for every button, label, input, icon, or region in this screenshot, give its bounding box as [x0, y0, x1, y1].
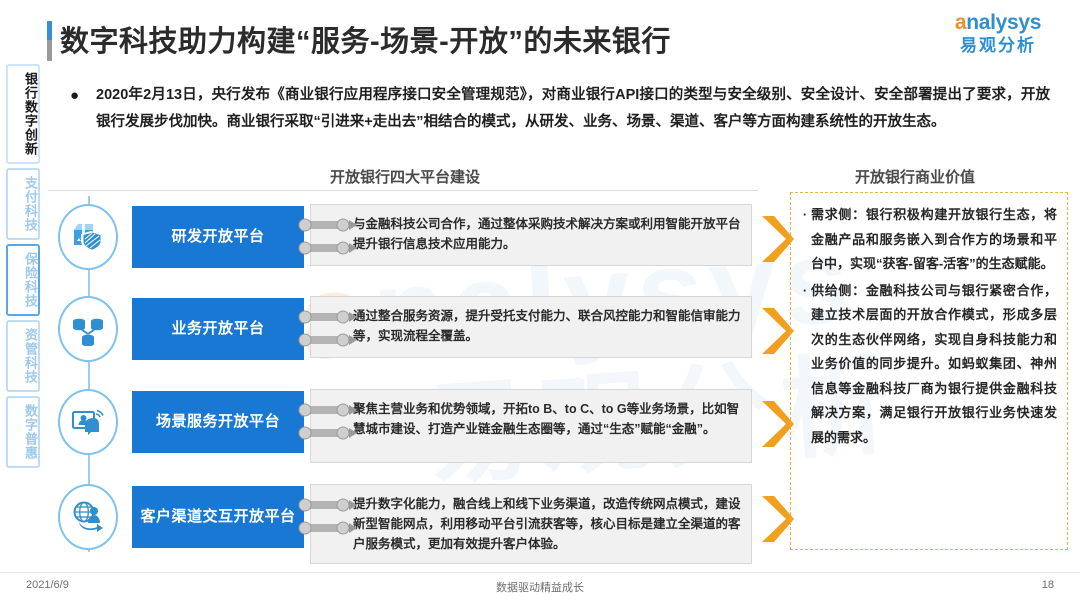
platform-row: 客户渠道交互开放平台 提升数字化能力，融合线上和线下业务渠道，改造传统网点模式，…: [48, 478, 808, 556]
platform-name-badge[interactable]: 客户渠道交互开放平台: [132, 486, 304, 548]
brand-logo-a: a: [955, 11, 966, 34]
value-bullet-demand-side: · 需求侧：银行积极构建开放银行生态，将金融产品和服务嵌入到合作方的场景和平台中…: [799, 203, 1057, 277]
sidebar-nav: 银行数字创新 支付科技 保险科技 资管科技 数字普惠: [6, 64, 40, 472]
section-heading-right: 开放银行商业价值: [855, 166, 975, 187]
platform-name-label: 客户渠道交互开放平台: [140, 508, 295, 526]
bullet-dot-icon: ·: [799, 203, 811, 277]
brand-logo: analysys 易观分析: [938, 12, 1058, 54]
brand-logo-rest: nalysys: [966, 11, 1041, 34]
sidebar-item-label: 保险科技: [8, 252, 38, 308]
database-stack-icon: [58, 296, 118, 362]
platform-row: 研发开放平台 与金融科技公司合作，通过整体采购技术解决方案或利用智能开放平台提升…: [48, 198, 808, 276]
platform-description: 与金融科技公司合作，通过整体采购技术解决方案或利用智能开放平台提升银行信息技术应…: [310, 204, 752, 266]
intro-text: 2020年2月13日，央行发布《商业银行应用程序接口安全管理规范》，对商业银行A…: [96, 82, 1050, 136]
brand-logo-subtitle: 易观分析: [938, 37, 1058, 54]
section-divider: [48, 190, 758, 191]
sidebar-item-label: 数字普惠: [8, 404, 38, 460]
footer-slogan: 数据驱动精益成长: [0, 579, 1080, 595]
intro-paragraph: ● 2020年2月13日，央行发布《商业银行应用程序接口安全管理规范》，对商业银…: [70, 82, 1050, 136]
bullet-dot-icon: ·: [799, 279, 811, 451]
screen-person-signal-icon: [58, 389, 118, 455]
sidebar-item-label: 资管科技: [8, 328, 38, 384]
sidebar-item-label: 银行数字创新: [8, 72, 38, 156]
title-accent-bar: [47, 21, 52, 61]
section-heading-left: 开放银行四大平台建设: [330, 166, 480, 187]
platform-row: 业务开放平台 通过整合服务资源，提升受托支付能力、联合风控能力和智能信审能力等，…: [48, 290, 808, 368]
link-connector-icon: [293, 391, 365, 453]
sidebar-item-insurance-tech[interactable]: 保险科技: [6, 244, 40, 316]
package-shield-icon: [58, 204, 118, 270]
platform-name-badge[interactable]: 业务开放平台: [132, 298, 304, 360]
platform-name-badge[interactable]: 场景服务开放平台: [132, 391, 304, 453]
brand-logo-text: analysys: [938, 12, 1058, 33]
page-header: 数字科技助力构建“服务-场景-开放”的未来银行 analysys 易观分析: [0, 0, 1080, 70]
link-connector-icon: [293, 206, 365, 268]
footer-page-number: 18: [1042, 579, 1054, 591]
platform-row: 场景服务开放平台 聚焦主营业务和优势领域，开拓to B、to C、to G等业务…: [48, 383, 808, 461]
platform-description: 提升数字化能力，融合线上和线下业务渠道，改造传统网点模式，建设新型智能网点，利用…: [310, 484, 752, 564]
sidebar-item-asset-management-tech[interactable]: 资管科技: [6, 320, 40, 392]
link-connector-icon: [293, 486, 365, 548]
intro-bullet-icon: ●: [70, 82, 96, 136]
platform-name-badge[interactable]: 研发开放平台: [132, 206, 304, 268]
platform-description: 聚焦主营业务和优势领域，开拓to B、to C、to G等业务场景，比如智慧城市…: [310, 389, 752, 463]
footer-divider: [0, 572, 1080, 573]
value-panel: · 需求侧：银行积极构建开放银行生态，将金融产品和服务嵌入到合作方的场景和平台中…: [790, 192, 1068, 550]
link-connector-icon: [293, 298, 365, 360]
value-bullet-text: 需求侧：银行积极构建开放银行生态，将金融产品和服务嵌入到合作方的场景和平台中，实…: [811, 203, 1057, 277]
sidebar-item-digital-inclusive-finance[interactable]: 数字普惠: [6, 396, 40, 468]
platform-name-label: 业务开放平台: [171, 320, 264, 338]
globe-person-icon: [58, 484, 118, 550]
page-title: 数字科技助力构建“服务-场景-开放”的未来银行: [60, 18, 671, 60]
platform-description: 通过整合服务资源，提升受托支付能力、联合风控能力和智能信审能力等，实现流程全覆盖…: [310, 296, 752, 358]
page-footer: 2021/6/9 数据驱动精益成长 18: [0, 577, 1080, 601]
sidebar-item-payment-tech[interactable]: 支付科技: [6, 168, 40, 240]
value-bullet-supply-side: · 供给侧：金融科技公司与银行紧密合作，建立技术层面的开放合作模式，形成多层次的…: [799, 279, 1057, 451]
platform-name-label: 研发开放平台: [171, 228, 264, 246]
value-bullet-text: 供给侧：金融科技公司与银行紧密合作，建立技术层面的开放合作模式，形成多层次的生态…: [811, 279, 1057, 451]
platform-name-label: 场景服务开放平台: [156, 413, 280, 431]
sidebar-item-bank-digital-innovation[interactable]: 银行数字创新: [6, 64, 40, 164]
sidebar-item-label: 支付科技: [8, 176, 38, 232]
